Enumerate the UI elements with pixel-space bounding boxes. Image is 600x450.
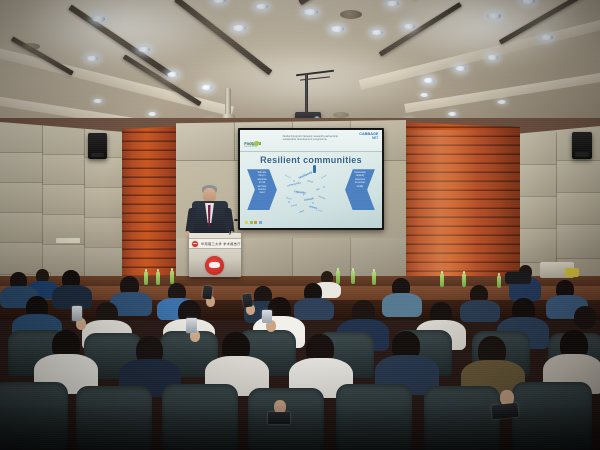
smartphone (72, 306, 82, 321)
partner-brand-line2: NET (359, 137, 378, 140)
footer-swatch (259, 221, 262, 224)
footer-swatch (254, 221, 257, 224)
left-chevron-shape: Who are they in response to risk and how… (247, 169, 277, 210)
foreground-shadow (0, 404, 600, 450)
footer-swatch (245, 221, 248, 224)
right-wall-speaker (572, 132, 592, 159)
left-wall-sign (56, 238, 80, 243)
stage-bag (505, 272, 531, 284)
slide-header: Footprint n e t w o r k Global Footprint… (240, 130, 382, 152)
slide-title: Resilient communities (240, 155, 382, 165)
ceiling-vent-icon (340, 10, 362, 19)
word-cloud-diagram: resilience community adapt capacity risk… (281, 165, 341, 216)
stage-yellow-item (565, 268, 579, 277)
left-wood-slat-wall (122, 126, 182, 286)
smartphone (202, 286, 212, 300)
smartphone (262, 310, 272, 323)
slide-footer-swatches (245, 221, 262, 224)
right-chevron-text: Community capacity resources to recover … (345, 169, 375, 210)
logo-subtitle: n e t w o r k (244, 146, 261, 148)
university-crest-icon (192, 241, 198, 247)
footprint-network-logo: Footprint n e t w o r k (244, 134, 275, 145)
lectern-banner-text: 华南理工大学 学术报告厅 (201, 241, 241, 246)
slide-header-text: Global Footprint Network research partne… (283, 135, 348, 143)
partner-brand-logo: CABBAGE NET (359, 133, 378, 140)
projected-slide: Footprint n e t w o r k Global Footprint… (240, 130, 382, 228)
lectern-front-crest-icon (205, 256, 224, 275)
lectern-banner: 华南理工大学 学术报告厅 (189, 238, 241, 249)
left-wall-speaker (88, 133, 107, 159)
right-chevron-shape: Community capacity resources to recover … (345, 169, 375, 210)
left-panel-grid (0, 122, 128, 292)
footer-swatch (250, 221, 253, 224)
smartphone (242, 293, 253, 307)
left-chevron-text: Who are they in response to risk and how… (247, 169, 277, 210)
smartphone (186, 318, 197, 333)
auditorium-photo: Footprint n e t w o r k Global Footprint… (0, 0, 600, 450)
